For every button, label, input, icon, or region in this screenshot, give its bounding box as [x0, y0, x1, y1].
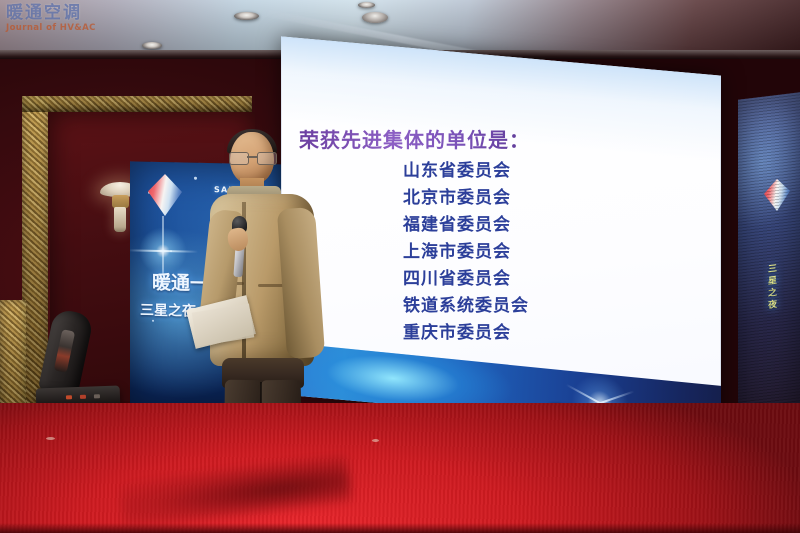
list-item: 山东省委员会: [403, 158, 529, 185]
list-item: 四川省委员会: [403, 266, 529, 293]
fixture-indicator-led: [66, 395, 72, 399]
backdrop-panel-right: 三星之夜: [738, 92, 800, 430]
diamond-logo-icon: [764, 177, 790, 212]
list-item: 铁道系统委员会: [403, 293, 529, 320]
ceiling-downlight: [142, 42, 162, 49]
red-carpet-floor: [0, 403, 800, 533]
projection-screen: 荣获先进集体的单位是： 山东省委员会 北京市委员会 福建省委员会 上海市委员会 …: [281, 36, 721, 433]
carpet-texture: [0, 403, 800, 533]
gold-pilaster-top: [22, 96, 252, 112]
fixture-indicator-led: [94, 394, 100, 398]
list-item: 福建省委员会: [403, 212, 529, 239]
wall-sconce-column: [114, 207, 126, 232]
carpet-speck: [372, 439, 379, 442]
list-item: 北京市委员会: [403, 185, 529, 212]
ceiling-downlight: [362, 12, 388, 23]
stage-photo-scene: SAMSUNG 暖通一家亲 三星之夜 恭迎您 三星之夜 荣获先进集体的单位是： …: [0, 0, 800, 533]
backdrop-right-slogan: 三星之夜: [768, 263, 777, 312]
slide-unit-list: 山东省委员会 北京市委员会 福建省委员会 上海市委员会 四川省委员会 铁道系统委…: [403, 158, 529, 347]
speaker-glasses: [229, 152, 275, 163]
jacket-pocket: [258, 284, 284, 287]
list-item: 重庆市委员会: [403, 320, 529, 347]
ceiling-downlight: [358, 2, 375, 8]
carpet-front-edge: [0, 523, 800, 533]
carpet-speck: [46, 437, 55, 440]
list-item: 上海市委员会: [403, 239, 529, 266]
fixture-indicator-led: [80, 395, 86, 399]
